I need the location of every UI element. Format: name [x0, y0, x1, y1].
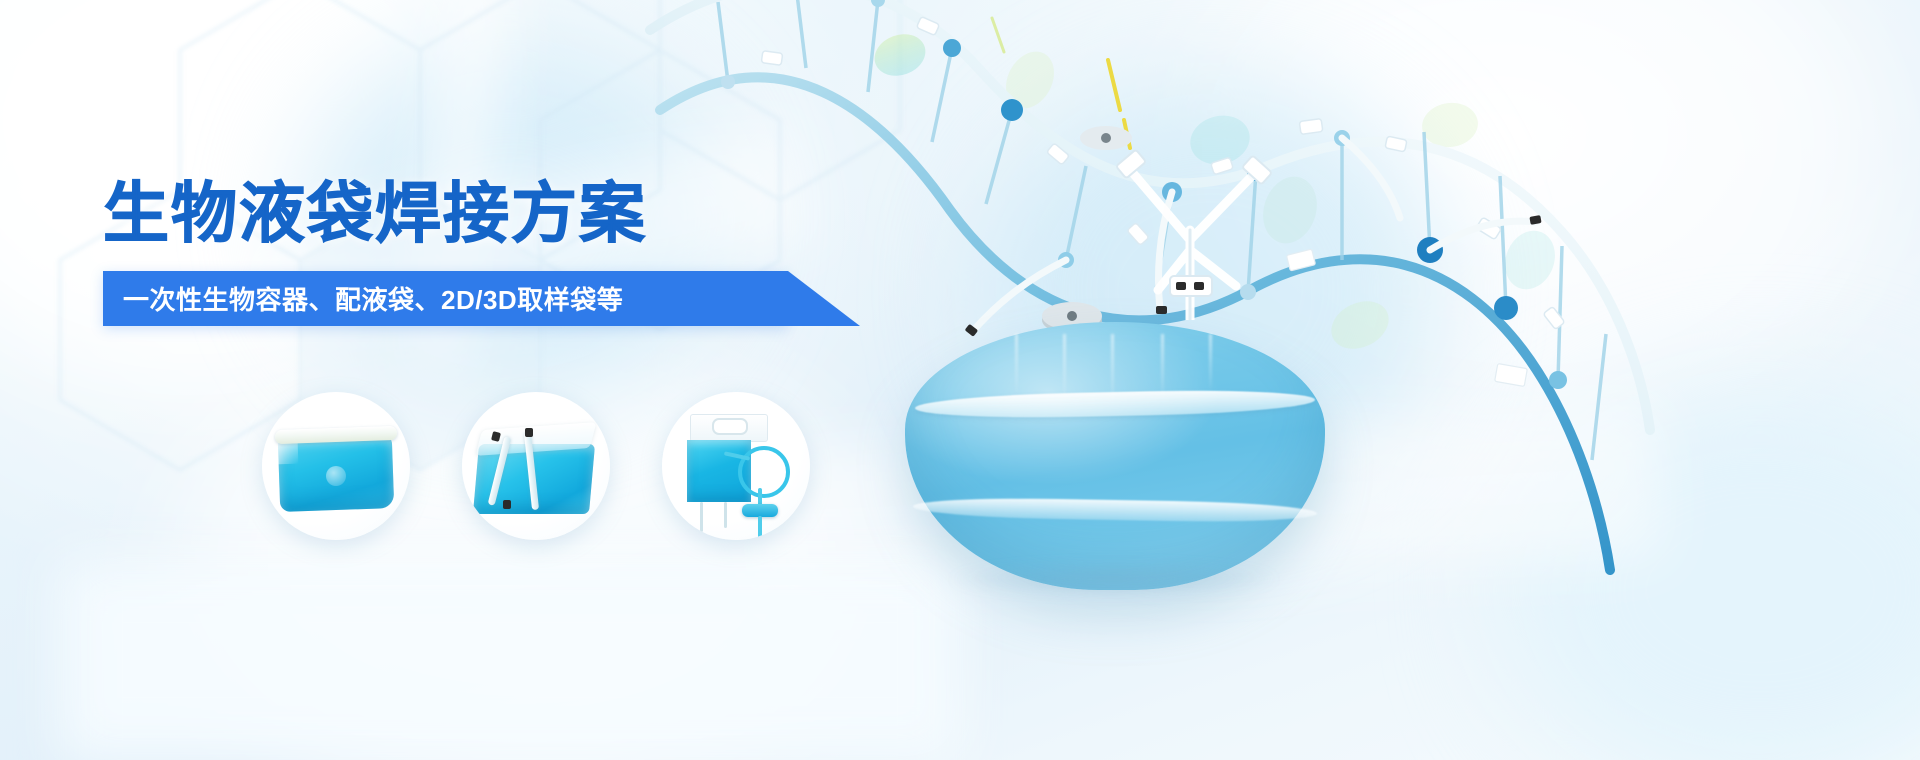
product-thumbnail-sampling-bag[interactable]	[662, 392, 810, 540]
cube-bag-cap-bottom	[503, 500, 511, 509]
hero-3d-bag-image	[905, 300, 1325, 600]
banner-copy: 生物液袋焊接方案 一次性生物容器、配液袋、2D/3D取样袋等	[103, 178, 823, 326]
pillow-bag-highlight	[276, 442, 299, 465]
sampling-bag-tube-coil	[738, 446, 790, 498]
product-thumbnail-pillow-bag[interactable]	[262, 392, 410, 540]
cube-bag-cap-right	[525, 428, 533, 437]
sampling-bag-handle	[712, 418, 748, 435]
hero-banner: 生物液袋焊接方案 一次性生物容器、配液袋、2D/3D取样袋等	[0, 0, 1920, 760]
pillow-bag-port	[326, 466, 346, 486]
subtitle-banner: 一次性生物容器、配液袋、2D/3D取样袋等	[103, 271, 788, 326]
sampling-bag-tube-c	[758, 516, 762, 538]
page-title: 生物液袋焊接方案	[103, 178, 823, 249]
product-thumbnail-row	[262, 392, 810, 540]
bag-port-manifold-icon	[1040, 80, 1360, 320]
sampling-bag-stem-left	[700, 502, 703, 532]
subtitle-text: 一次性生物容器、配液袋、2D/3D取样袋等	[103, 280, 623, 317]
sampling-bag-stem-right	[724, 502, 727, 528]
product-thumbnail-cube-bag[interactable]	[462, 392, 610, 540]
